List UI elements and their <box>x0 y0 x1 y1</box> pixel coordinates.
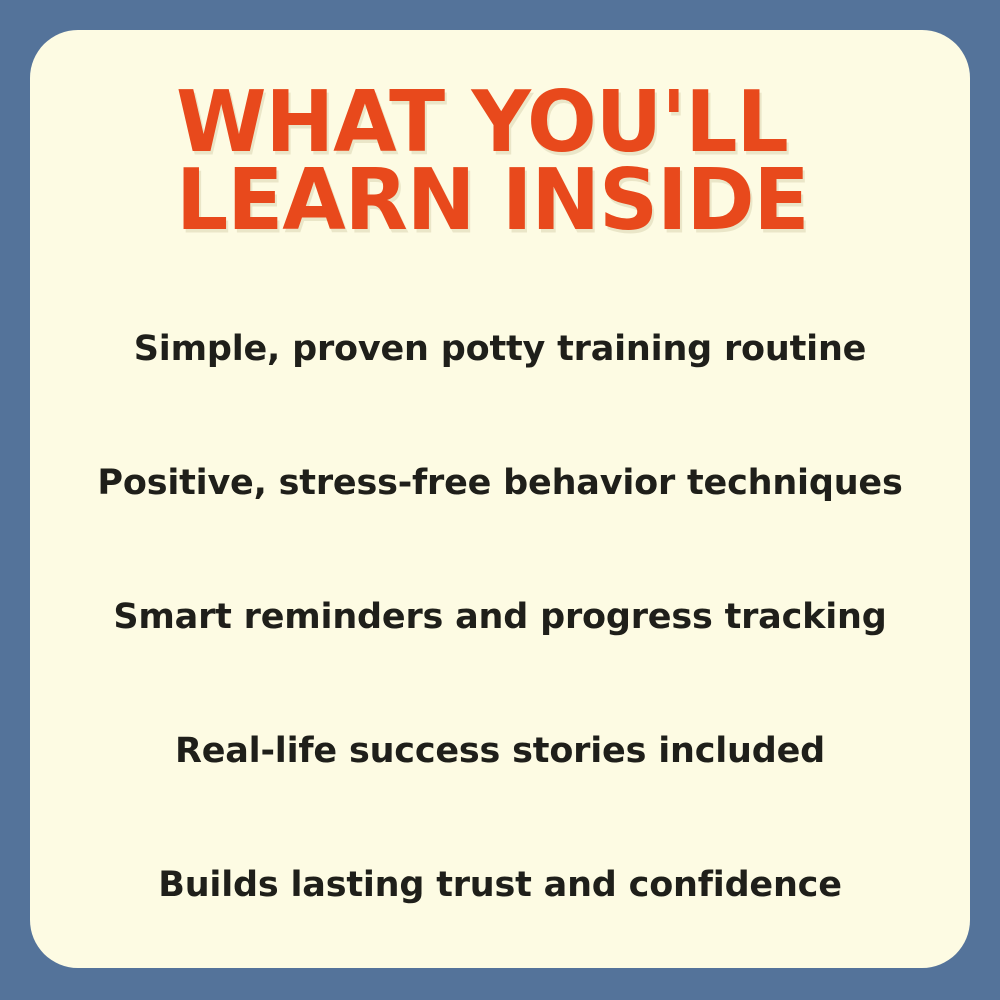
list-item: Positive, stress-free behavior technique… <box>30 416 970 550</box>
promo-poster: WHAT YOU'LL LEARN INSIDE Simple, proven … <box>0 0 1000 1000</box>
list-item: Builds lasting trust and confidence <box>30 818 970 952</box>
list-item: Smart reminders and progress tracking <box>30 550 970 684</box>
list-item: Real-life success stories included <box>30 684 970 818</box>
benefits-list: Simple, proven potty training routine Po… <box>30 282 970 952</box>
page-title: WHAT YOU'LL LEARN INSIDE <box>176 88 856 234</box>
content-card: WHAT YOU'LL LEARN INSIDE Simple, proven … <box>30 30 970 968</box>
page-title-line-2: LEARN INSIDE <box>176 162 910 238</box>
list-item: Simple, proven potty training routine <box>30 282 970 416</box>
